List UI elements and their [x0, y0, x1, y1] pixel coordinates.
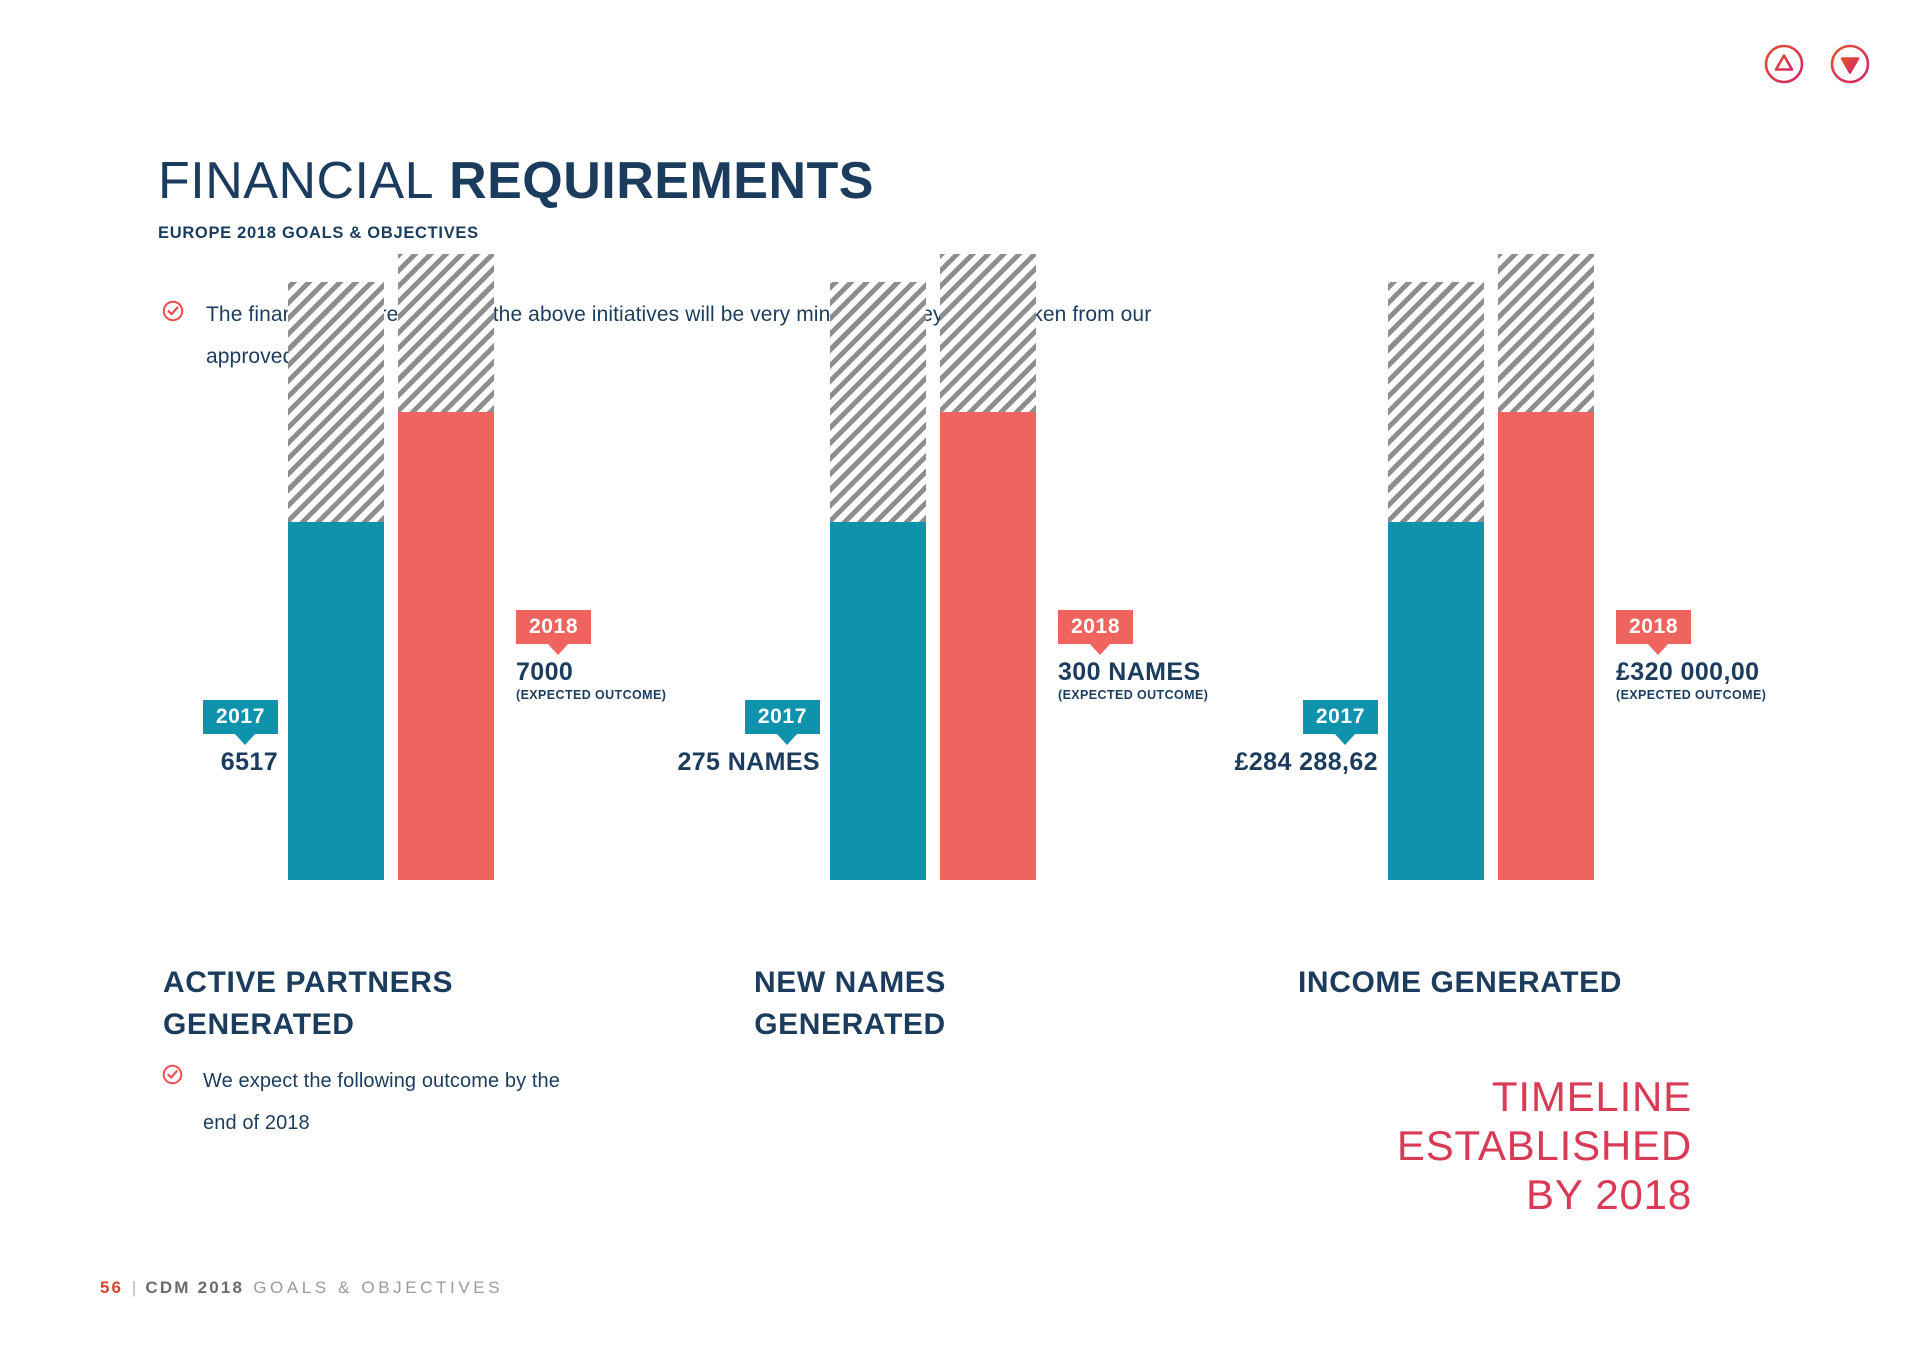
bar-fill-2018	[398, 412, 494, 880]
bar-hatch-2017	[288, 282, 384, 522]
bar-hatch-2018	[398, 254, 494, 412]
footer-separator: |	[132, 1278, 136, 1298]
tag-2018: 2018	[1616, 610, 1691, 644]
value-2018: £320 000,00	[1616, 658, 1766, 687]
outcome-bullet: We expect the following outcome by the e…	[162, 1060, 582, 1144]
slide-footer: 56 | CDM 2018 GOALS & OBJECTIVES	[100, 1278, 503, 1298]
slide-canvas: FINANCIAL REQUIREMENTS EUROPE 2018 GOALS…	[0, 0, 1920, 1358]
tag-2017: 2017	[745, 700, 820, 734]
bar-fill-2018	[940, 412, 1036, 880]
bar-hatch-2018	[940, 254, 1036, 412]
bar-hatch-2017	[1388, 282, 1484, 522]
caption-new-names: NEW NAMES GENERATED	[640, 962, 1060, 1046]
bar-2017-new-names[interactable]	[830, 522, 926, 880]
callout-2018-active-partners: 2018 7000 (EXPECTED OUTCOME)	[516, 610, 666, 702]
bar-pair	[1388, 280, 1618, 880]
page-number: 56	[100, 1278, 123, 1298]
callout-2017-new-names: 2017 275 NAMES	[640, 700, 820, 777]
value-2017: £284 288,62	[1148, 748, 1378, 777]
bar-2017-income[interactable]	[1388, 522, 1484, 880]
callout-2018-new-names: 2018 300 NAMES (EXPECTED OUTCOME)	[1058, 610, 1208, 702]
bar-fill-2018	[1498, 412, 1594, 880]
callout-2017-income: 2017 £284 288,62	[1148, 700, 1378, 777]
caption-income: INCOME GENERATED	[1298, 962, 1818, 1004]
tag-2018: 2018	[1058, 610, 1133, 644]
bar-2018-income[interactable]	[1498, 412, 1594, 880]
timeline-line-2: ESTABLISHED	[1397, 1121, 1692, 1170]
outcome-bullet-text: We expect the following outcome by the e…	[203, 1060, 582, 1144]
bar-pair	[830, 280, 1060, 880]
caption-active-partners: ACTIVE PARTNERS GENERATED	[163, 962, 583, 1046]
timeline-line-1: TIMELINE	[1397, 1072, 1692, 1121]
callout-2017-active-partners: 2017 6517	[168, 700, 278, 777]
timeline-statement: TIMELINE ESTABLISHED BY 2018	[1397, 1072, 1692, 1219]
bar-hatch-2018	[1498, 254, 1594, 412]
bar-hatch-2017	[830, 282, 926, 522]
bar-pair	[288, 280, 518, 880]
footer-deck-name: GOALS & OBJECTIVES	[253, 1278, 503, 1298]
tag-2017: 2017	[203, 700, 278, 734]
callout-2018-income: 2018 £320 000,00 (EXPECTED OUTCOME)	[1616, 610, 1766, 702]
value-2017: 275 NAMES	[640, 748, 820, 777]
bar-2018-active-partners[interactable]	[398, 412, 494, 880]
timeline-line-3: BY 2018	[1397, 1170, 1692, 1219]
check-circle-icon	[162, 1064, 183, 1090]
bar-2017-active-partners[interactable]	[288, 522, 384, 880]
bar-2018-new-names[interactable]	[940, 412, 1036, 880]
bar-fill-2017	[830, 522, 926, 880]
tag-2017: 2017	[1303, 700, 1378, 734]
value-2018: 300 NAMES	[1058, 658, 1208, 687]
tag-2018: 2018	[516, 610, 591, 644]
bar-fill-2017	[288, 522, 384, 880]
bar-fill-2017	[1388, 522, 1484, 880]
note-2018: (EXPECTED OUTCOME)	[1616, 688, 1766, 702]
value-2017: 6517	[168, 748, 278, 777]
footer-brand: CDM 2018	[145, 1278, 244, 1298]
value-2018: 7000	[516, 658, 666, 687]
